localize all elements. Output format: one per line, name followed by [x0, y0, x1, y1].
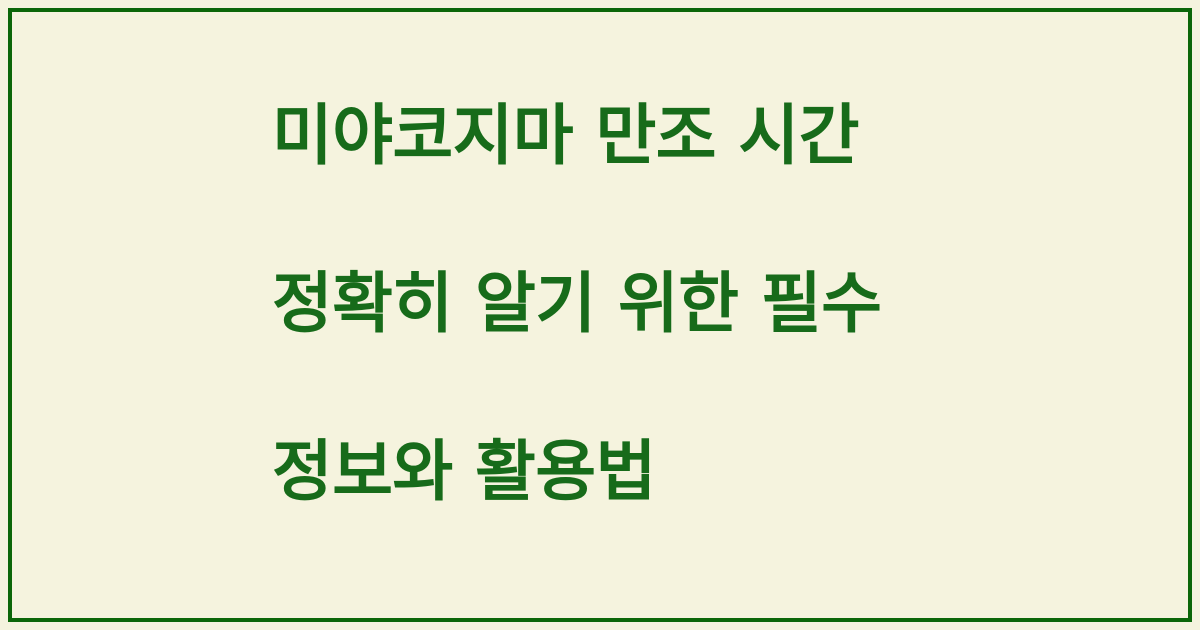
headline-line-1: 미야코지마 만조 시간 — [272, 94, 1128, 178]
page-title: 미야코지마 만조 시간 정확히 알기 위한 필수 정보와 활용법 — [272, 10, 1128, 598]
headline-line-2: 정확히 알기 위한 필수 — [272, 262, 1128, 346]
og-card: 미야코지마 만조 시간 정확히 알기 위한 필수 정보와 활용법 — [0, 0, 1200, 630]
card-border-frame: 미야코지마 만조 시간 정확히 알기 위한 필수 정보와 활용법 — [8, 8, 1192, 622]
headline-line-3: 정보와 활용법 — [272, 430, 1128, 514]
headline-block: 미야코지마 만조 시간 정확히 알기 위한 필수 정보와 활용법 — [12, 10, 1188, 620]
